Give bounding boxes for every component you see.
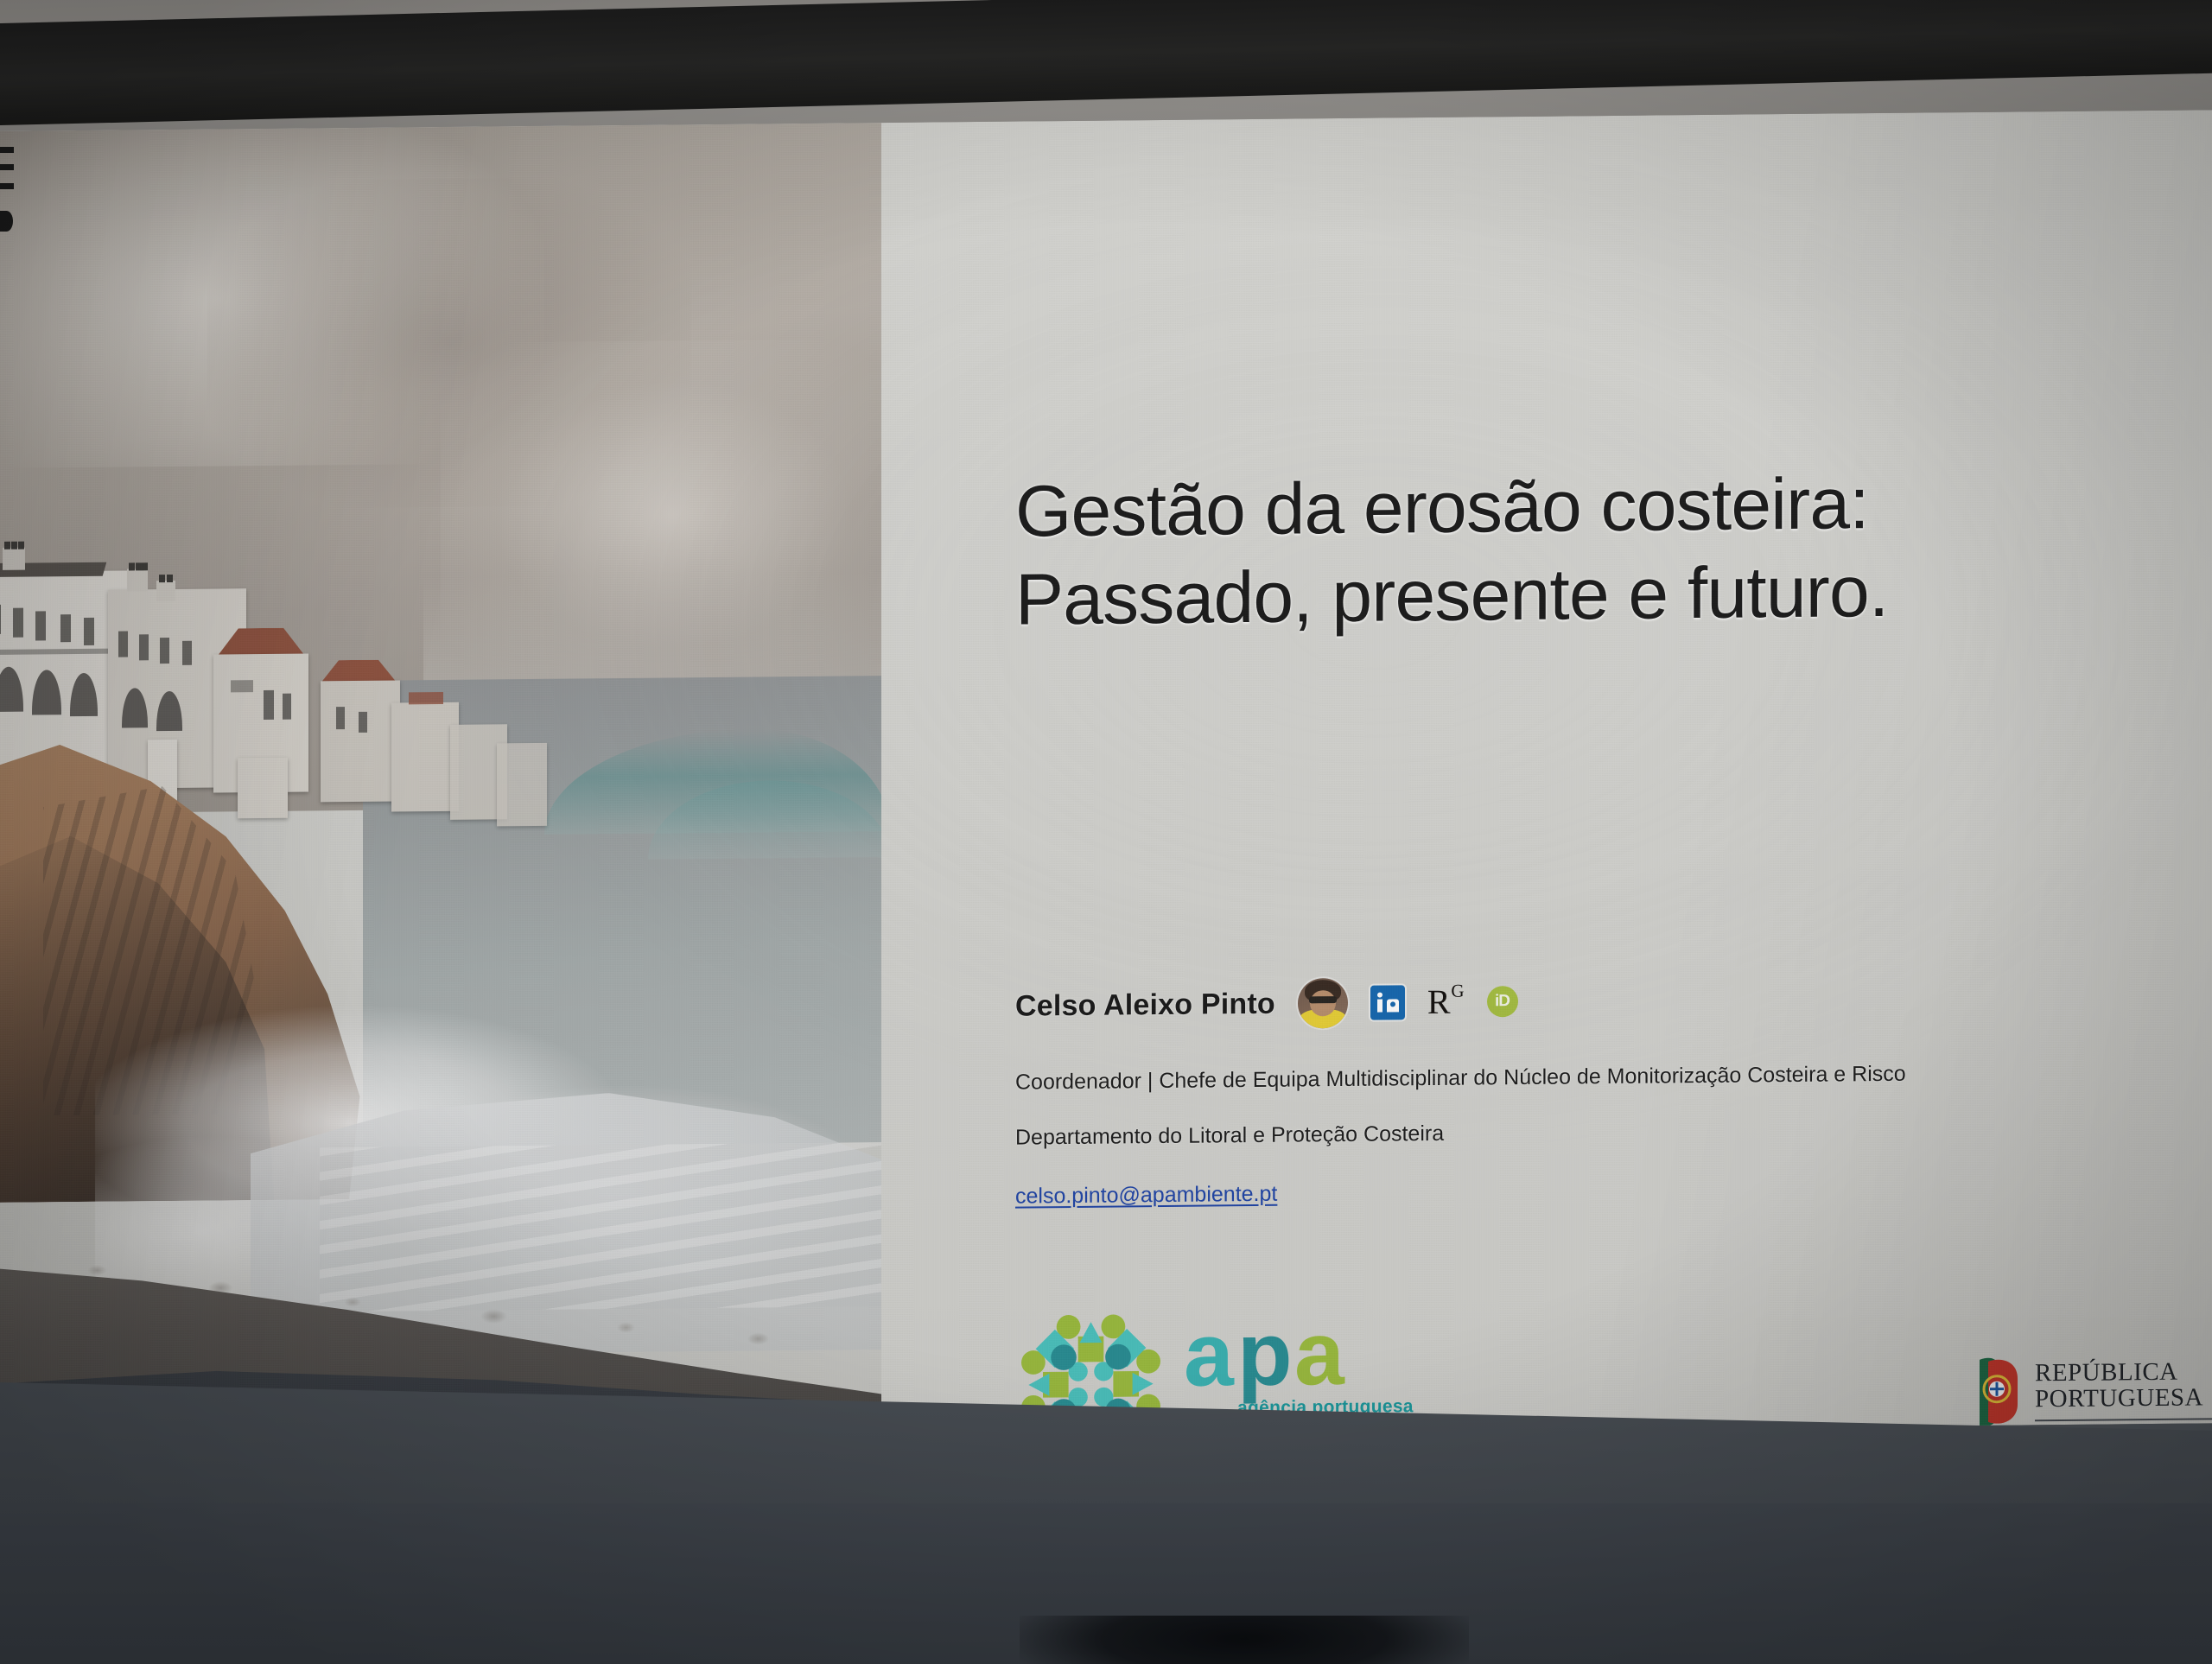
slide-content: Gestão da erosão costeira: Passado, pres… (881, 110, 2212, 1436)
orcid-label: iD (1495, 992, 1510, 1011)
projection-room: Gestão da erosão costeira: Passado, pres… (0, 0, 2212, 1664)
republica-line-2: PORTUGUESA (2035, 1385, 2212, 1413)
republica-line-1: REPÚBLICA (2035, 1359, 2212, 1387)
coastal-erosion-photo (0, 123, 881, 1445)
projection-screen: Gestão da erosão costeira: Passado, pres… (0, 110, 2212, 1445)
avatar (1298, 978, 1348, 1029)
foreground-shadow (1020, 1616, 1469, 1664)
apa-wordmark: a p a (1184, 1314, 1408, 1406)
svg-text:a: a (1184, 1314, 1235, 1405)
author-role: Coordenador | Chefe de Equipa Multidisci… (1015, 1062, 1906, 1096)
clipped-edge-glyphs (0, 145, 29, 257)
photo-cobbles (0, 1229, 873, 1393)
title-line-1: Gestão da erosão costeira: (1015, 455, 2212, 556)
author-department: Departamento do Litoral e Proteção Coste… (1015, 1121, 1444, 1151)
researchgate-icon[interactable]: RG (1427, 985, 1465, 1019)
researchgate-letter: R (1427, 982, 1451, 1021)
author-name: Celso Aleixo Pinto (1015, 987, 1275, 1023)
linkedin-icon[interactable] (1370, 985, 1405, 1019)
orcid-icon[interactable]: iD (1487, 986, 1518, 1017)
svg-text:a: a (1294, 1314, 1345, 1404)
author-email-link[interactable]: celso.pinto@apambiente.pt (1015, 1182, 1277, 1210)
republica-divider (2035, 1418, 2212, 1421)
svg-text:p: p (1237, 1314, 1293, 1405)
researchgate-superscript: G (1451, 982, 1464, 1000)
page-title: Gestão da erosão costeira: Passado, pres… (1015, 455, 2212, 645)
clipped-d-glyph (0, 211, 13, 232)
title-line-2: Passado, presente e futuro. (1015, 543, 2212, 644)
portugal-shield-icon (1974, 1356, 2021, 1429)
presentation-slide: Gestão da erosão costeira: Passado, pres… (0, 110, 2212, 1445)
author-row: Celso Aleixo Pinto RG (1015, 976, 1518, 1032)
